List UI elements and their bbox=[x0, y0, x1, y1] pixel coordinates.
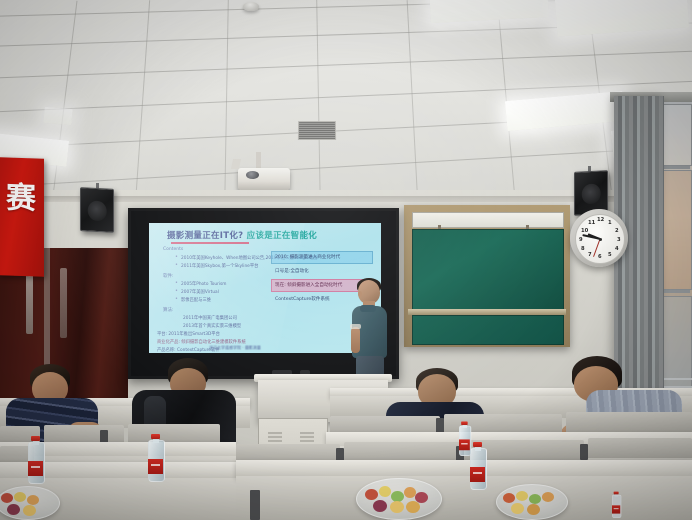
fruit-platter bbox=[496, 484, 568, 520]
fruit-piece bbox=[14, 492, 26, 502]
water-bottle bbox=[148, 434, 163, 482]
clock-numeral: 2 bbox=[615, 228, 619, 234]
fruit-piece bbox=[406, 501, 420, 513]
fruit-platter bbox=[356, 478, 442, 520]
bottle-cap bbox=[614, 492, 619, 495]
bottle-cap bbox=[473, 442, 482, 447]
fruit-piece bbox=[365, 489, 378, 500]
presenter-arm bbox=[351, 327, 360, 353]
fruit-piece bbox=[529, 494, 541, 504]
fruit-piece bbox=[390, 501, 404, 513]
whiteboard-strip bbox=[412, 212, 564, 228]
fruit-piece bbox=[542, 492, 554, 502]
wall-speaker bbox=[80, 187, 114, 233]
clock-center-pin bbox=[599, 238, 602, 241]
seat-back bbox=[128, 424, 220, 444]
slide-title-underline bbox=[171, 242, 249, 244]
water-bottle bbox=[470, 442, 485, 490]
ceiling-light-panel bbox=[43, 107, 72, 125]
door-viewing-slot bbox=[60, 268, 67, 338]
air-vent-icon bbox=[298, 121, 336, 140]
slide-box-sub-text: 口号是:全自动化 bbox=[275, 268, 309, 274]
slide-platform-line: 平台: 2011年推出Smart3D平台 bbox=[157, 331, 220, 337]
smoke-detector-icon bbox=[243, 2, 259, 11]
chalkboard-surface bbox=[412, 229, 564, 312]
desk-leg bbox=[250, 490, 260, 520]
presenter-sleeve bbox=[350, 324, 361, 329]
fruit-piece bbox=[503, 493, 515, 503]
slide-section-label: 算法: bbox=[163, 307, 174, 313]
slide-bullet: 2005年Photo Tourism bbox=[181, 281, 227, 287]
window-glass bbox=[662, 104, 692, 166]
bottle-cap bbox=[151, 434, 160, 439]
bottle-label bbox=[459, 439, 470, 450]
classroom-photo-scene: 赛 12 1 2 3 4 5 6 7 8 bbox=[0, 0, 692, 520]
red-banner: 赛 bbox=[0, 157, 44, 277]
slide-footer: 武汉大学遥感学院 · 摄影测量 bbox=[209, 345, 261, 351]
water-bottle bbox=[612, 492, 620, 518]
banner-character: 赛 bbox=[0, 183, 42, 214]
desk-front-panel bbox=[236, 476, 692, 520]
fruit-piece bbox=[27, 495, 39, 505]
clock-numeral: 3 bbox=[617, 237, 621, 243]
bottle-cap bbox=[461, 421, 467, 425]
fruit-piece bbox=[511, 503, 524, 514]
slide-title-highlight: 应该是正在智能化 bbox=[247, 231, 317, 241]
seat-back bbox=[588, 438, 692, 458]
clock-numeral: 9 bbox=[579, 237, 583, 243]
bottle-label bbox=[28, 461, 43, 476]
bottle-label bbox=[612, 505, 620, 513]
window-mullion bbox=[662, 290, 690, 293]
wall-clock: 12 1 2 3 4 5 6 7 8 9 10 11 bbox=[570, 209, 628, 267]
fruit-piece bbox=[1, 493, 13, 503]
clock-numeral: 1 bbox=[608, 220, 612, 226]
presenter-ear bbox=[358, 291, 362, 297]
clock-numeral: 5 bbox=[608, 252, 612, 258]
fruit-piece bbox=[7, 504, 20, 515]
slide-bullet: 2013年首个真实实景三维模型 bbox=[183, 323, 241, 329]
bottle-label bbox=[470, 467, 485, 482]
fruit-piece bbox=[373, 500, 387, 512]
slide-box-pink-text: 现在: 倾斜摄影进入全自动化时代 bbox=[275, 282, 342, 288]
slide-section-label: 软件: bbox=[163, 273, 174, 279]
fruit-piece bbox=[516, 491, 528, 501]
slide-bullet: 2011年美国Skybox,第一个Skyline平台 bbox=[181, 263, 258, 269]
bottle-cap bbox=[31, 436, 40, 441]
fruit-piece bbox=[527, 504, 540, 515]
slide-bullet: 影像匹配与三维 bbox=[181, 297, 211, 303]
clock-numeral: 6 bbox=[598, 254, 602, 260]
clock-numeral: 11 bbox=[588, 220, 595, 226]
water-bottle bbox=[459, 421, 470, 456]
slide-box-blue-text: 2010: 摄影测量进入商业化时代 bbox=[275, 254, 340, 260]
slide-bullet: 2011年中国某广电集团公司 bbox=[183, 315, 237, 321]
fruit-piece bbox=[23, 505, 36, 516]
window-mullion bbox=[662, 166, 690, 169]
slide-box-after-text: ContextCapture软件系统 bbox=[275, 296, 330, 302]
green-chalkboard bbox=[404, 205, 570, 347]
desk-divider bbox=[580, 444, 588, 460]
seat-back bbox=[566, 412, 692, 432]
ceiling-projector bbox=[238, 168, 290, 190]
chalkboard-surface-lower bbox=[412, 315, 564, 345]
presenter-collar bbox=[360, 305, 376, 312]
bottle-label bbox=[148, 459, 163, 474]
clock-face: 12 1 2 3 4 5 6 7 8 9 10 11 bbox=[575, 214, 625, 264]
slide-bullet: 2007年美国Virtual bbox=[181, 289, 219, 295]
clock-numeral: 7 bbox=[588, 252, 592, 258]
slide-contents-label: Contents bbox=[163, 247, 183, 252]
slide-title-main: 摄影测量正在IT化? bbox=[167, 231, 243, 241]
seat-back bbox=[344, 442, 460, 462]
clock-numeral: 12 bbox=[597, 217, 604, 223]
clock-numeral: 4 bbox=[615, 246, 619, 252]
slide-title: 摄影测量正在IT化? 应该是正在智能化 bbox=[167, 229, 375, 241]
clock-numeral: 8 bbox=[581, 246, 585, 252]
window-glass bbox=[662, 170, 692, 290]
fruit-piece bbox=[379, 486, 391, 497]
water-bottle bbox=[28, 436, 43, 484]
